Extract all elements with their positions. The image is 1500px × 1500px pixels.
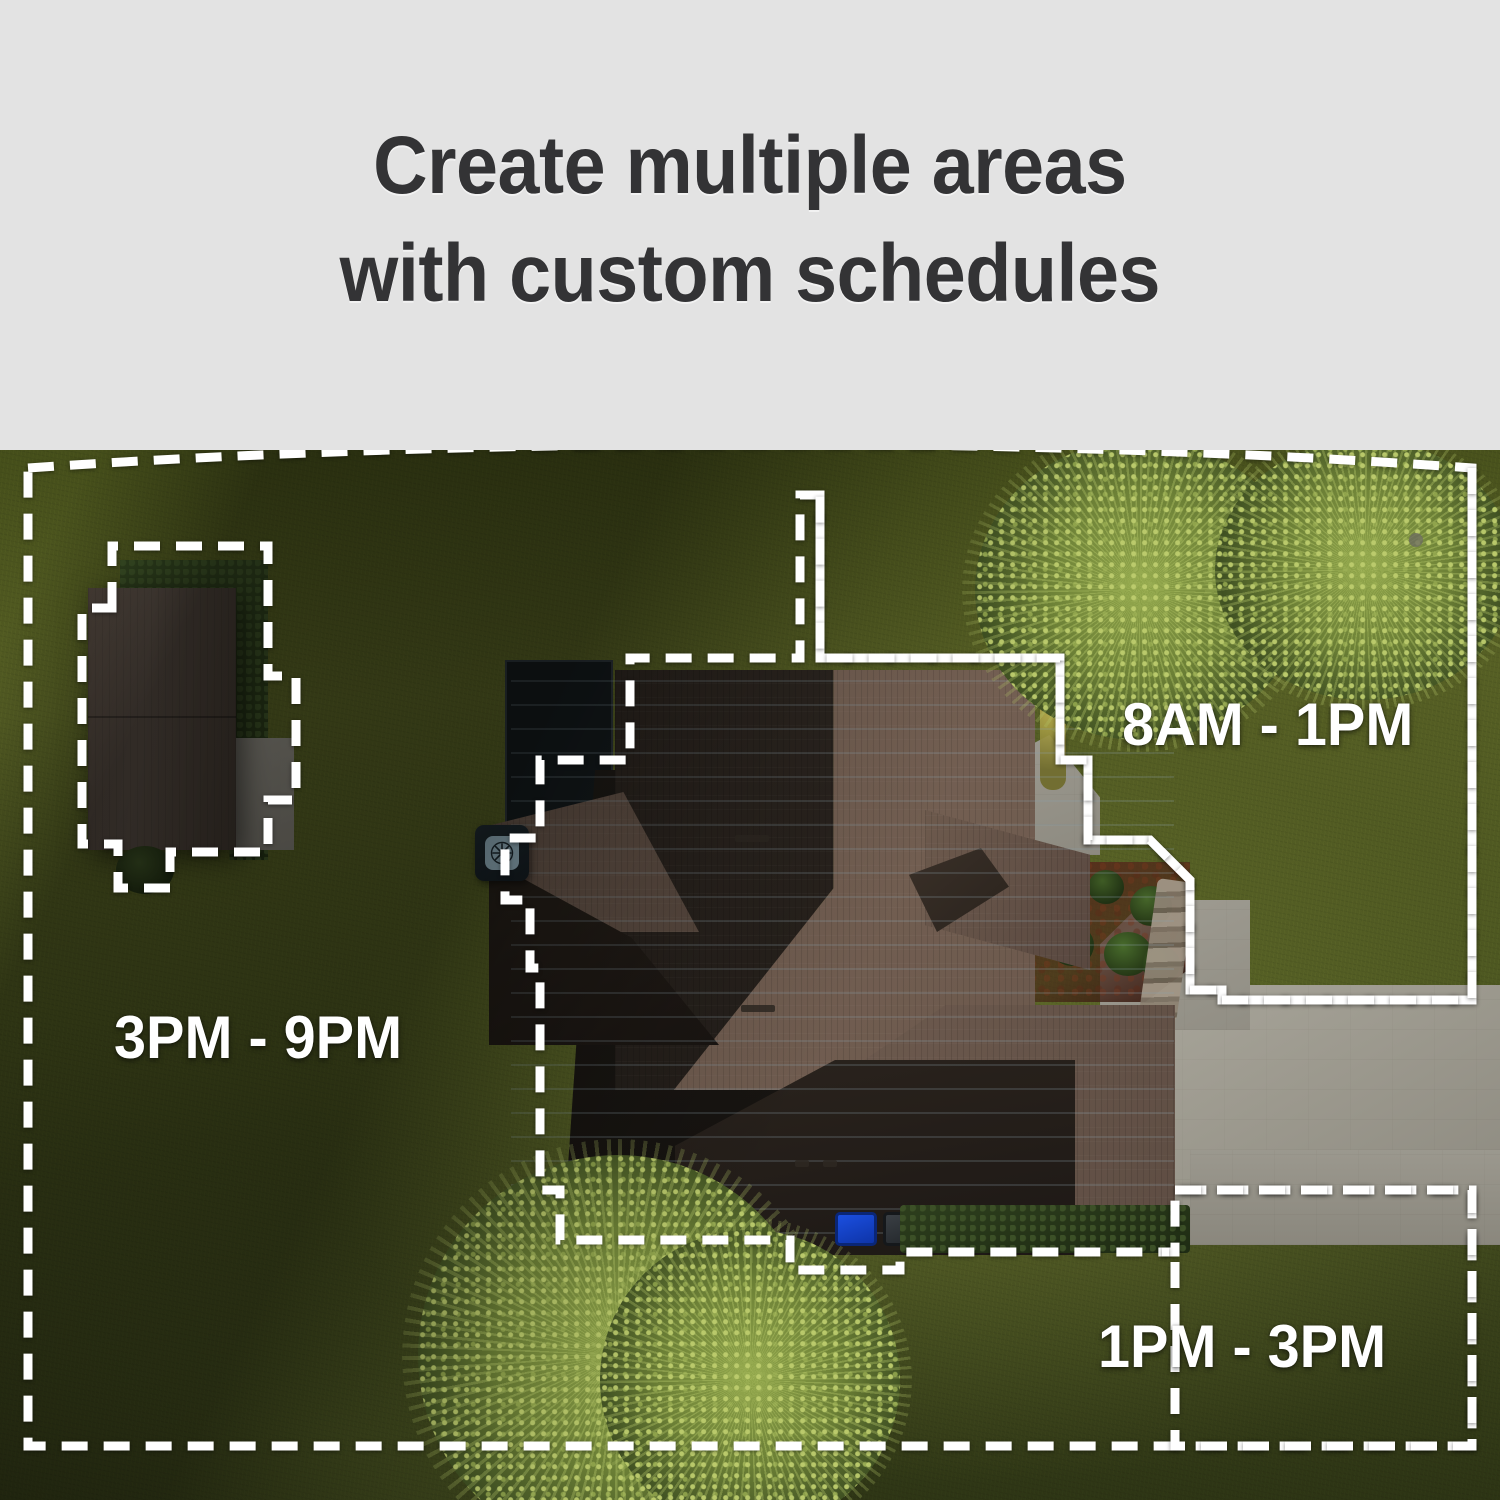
page-title: Create multiple areas with custom schedu… <box>340 112 1160 328</box>
headline-line-1: Create multiple areas <box>340 112 1160 220</box>
header-banner: Create multiple areas with custom schedu… <box>0 0 1500 450</box>
zone-label-evening: 3PM - 9PM <box>114 1003 402 1072</box>
headline-line-2: with custom schedules <box>340 220 1160 328</box>
zone-label-midday: 1PM - 3PM <box>1098 1312 1386 1381</box>
zone-label-morning: 8AM - 1PM <box>1122 690 1413 759</box>
